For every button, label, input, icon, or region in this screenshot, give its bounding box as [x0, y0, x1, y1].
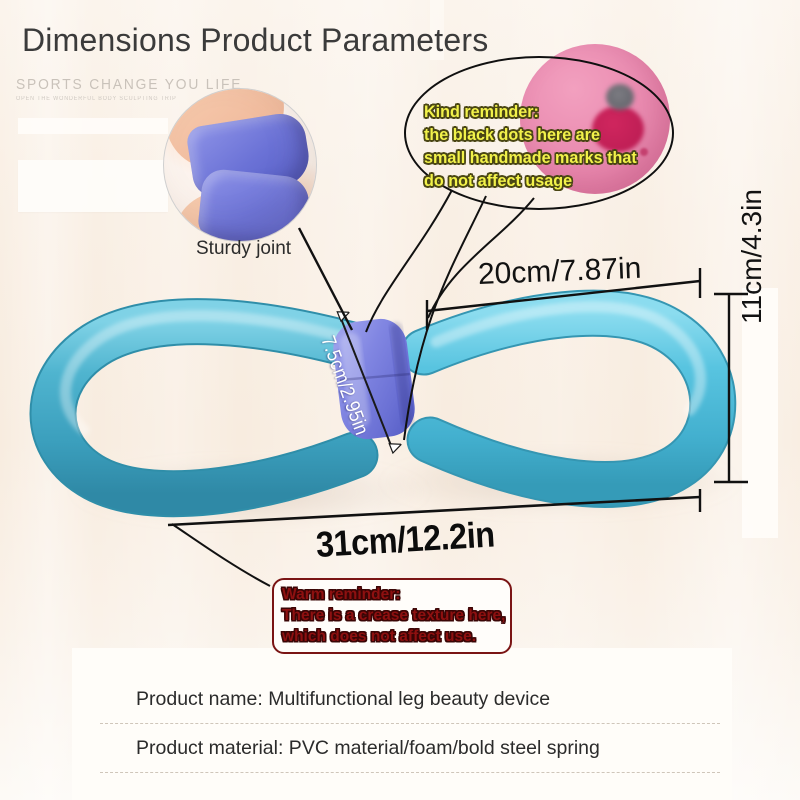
width-dimension-label: 20cm/7.87in: [477, 252, 642, 292]
sturdy-joint-label: Sturdy joint: [196, 238, 291, 260]
brand-subslogan: OPEN THE WONDERFUL BODY SCULPTING TRIP: [16, 96, 187, 102]
background-panel-right: [742, 288, 778, 538]
infographic-canvas: Dimensions Product Parameters SPORTS CHA…: [0, 0, 800, 800]
info-separator-2: [100, 772, 720, 773]
kind-reminder-line-2: the black dots here are: [424, 123, 662, 146]
kind-reminder-line-4: do not affect usage: [424, 169, 662, 192]
joint-dimension-label: 7.5cm/2.95in: [315, 333, 372, 439]
page-title: Dimensions Product Parameters: [22, 22, 488, 59]
info-separator-1: [100, 723, 720, 724]
kind-reminder-line-3: small handmade marks that: [424, 146, 662, 169]
kind-reminder-line-1: Kind reminder:: [424, 100, 662, 123]
sturdy-joint-photo: [163, 88, 317, 242]
height-dimension-label: 11cm/4.3in: [736, 189, 768, 324]
background-panel-left-top: [18, 118, 168, 134]
product-info-list: Product name: Multifunctional leg beauty…: [100, 688, 720, 786]
warm-reminder-text: Warm reminder: There is a crease texture…: [282, 584, 507, 647]
product-material-row: Product material: PVC material/foam/bold…: [100, 737, 720, 772]
inset-vignette: [164, 89, 316, 241]
warm-reminder-line-2: There is a crease texture here,: [282, 605, 507, 626]
product-name-row: Product name: Multifunctional leg beauty…: [100, 688, 720, 723]
background-panel-left: [18, 160, 168, 212]
length-dimension-label: 31cm/12.2in: [315, 513, 496, 566]
warm-reminder-line-3: which does not affect use.: [282, 626, 507, 647]
kind-reminder-text: Kind reminder: the black dots here are s…: [424, 100, 662, 192]
warm-reminder-line-1: Warm reminder:: [282, 584, 507, 605]
